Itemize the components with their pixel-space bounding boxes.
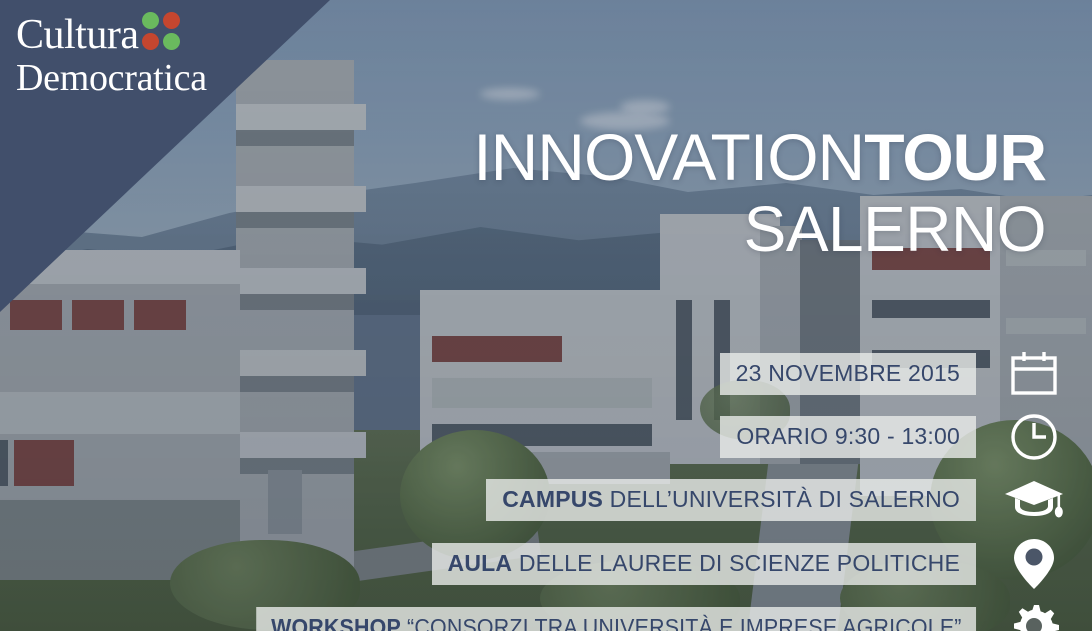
room-text: DELLE LAUREE DI SCIENZE POLITICHE — [512, 550, 960, 576]
dot-bottom-right — [163, 33, 180, 50]
logo-dots-icon — [142, 12, 180, 50]
time-bar: ORARIO 9:30 - 13:00 — [720, 416, 976, 458]
workshop-label-bold: WORKSHOP — [271, 614, 401, 631]
time-text: ORARIO 9:30 - 13:00 — [736, 423, 960, 449]
info-row-workshop: WORKSHOP “CONSORZI TRA UNIVERSITÀ E IMPR… — [0, 602, 1092, 631]
info-row-time: ORARIO 9:30 - 13:00 — [0, 411, 1092, 463]
venue-text: DELL’UNIVERSITÀ DI SALERNO — [603, 486, 960, 512]
info-row-room: AULA DELLE LAUREE DI SCIENZE POLITICHE — [0, 537, 1092, 591]
dot-top-left — [142, 12, 159, 29]
dot-bottom-left — [142, 33, 159, 50]
logo-word-cultura: Cultura — [16, 14, 138, 56]
title-tour: TOUR — [864, 120, 1046, 194]
logo-word-democratica: Democratica — [16, 59, 207, 97]
info-row-venue: CAMPUS DELL’UNIVERSITÀ DI SALERNO — [0, 474, 1092, 526]
poster-title: INNOVATIONTOUR SALERNO — [473, 126, 1046, 259]
venue-label-bold: CAMPUS — [502, 486, 603, 512]
info-row-date: 23 NOVEMBRE 2015 — [0, 348, 1092, 400]
workshop-text: “CONSORZI TRA UNIVERSITÀ E IMPRESE AGRIC… — [400, 614, 961, 631]
gear-icon — [976, 602, 1092, 631]
event-poster: Cultura Democratica INNOVATIONTOUR SALER… — [0, 0, 1092, 631]
date-bar: 23 NOVEMBRE 2015 — [720, 353, 976, 395]
logo-row-top: Cultura — [16, 12, 207, 57]
dot-top-right — [163, 12, 180, 29]
date-text: 23 NOVEMBRE 2015 — [736, 360, 960, 386]
workshop-bar: WORKSHOP “CONSORZI TRA UNIVERSITÀ E IMPR… — [256, 607, 976, 631]
logo[interactable]: Cultura Democratica — [16, 12, 207, 97]
graduation-cap-icon — [976, 474, 1092, 526]
room-bar: AULA DELLE LAUREE DI SCIENZE POLITICHE — [432, 543, 976, 585]
clock-icon — [976, 411, 1092, 463]
title-line-1: INNOVATIONTOUR — [473, 126, 1046, 189]
calendar-icon — [976, 348, 1092, 400]
room-label-bold: AULA — [448, 550, 513, 576]
info-rows: 23 NOVEMBRE 2015 ORARIO 9:30 - 13:00 — [0, 348, 1092, 631]
title-salerno: SALERNO — [473, 199, 1046, 260]
title-innovation: INNOVATION — [473, 120, 864, 194]
venue-bar: CAMPUS DELL’UNIVERSITÀ DI SALERNO — [486, 479, 976, 521]
location-pin-icon — [976, 537, 1092, 591]
